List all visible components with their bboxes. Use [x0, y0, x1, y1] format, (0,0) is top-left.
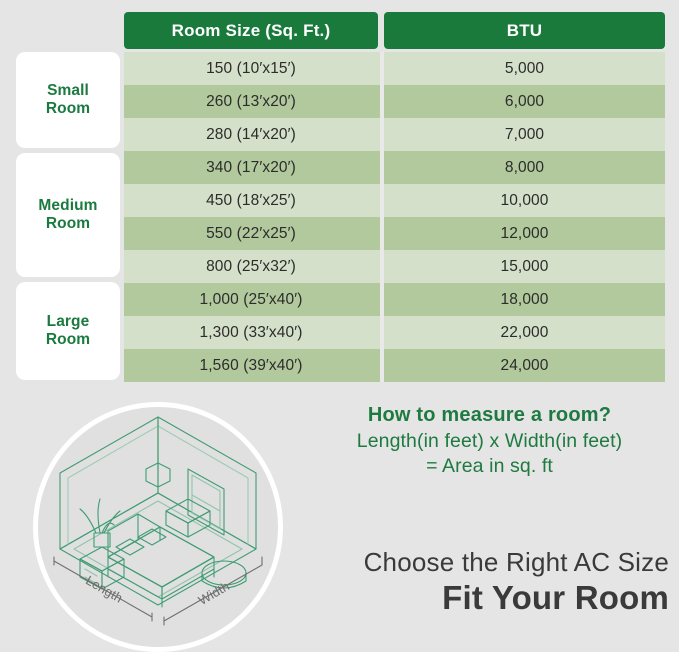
- tagline-block: Choose the Right AC Size Fit Your Room: [300, 548, 669, 617]
- column-header-btu: BTU: [384, 12, 665, 49]
- category-medium-line2: Room: [46, 215, 90, 232]
- table-row: 450 (18′x25′)10,000: [124, 184, 665, 217]
- table-row: 150 (10′x15′)5,000: [124, 52, 665, 85]
- category-label-small: Small Room: [46, 82, 90, 119]
- category-card-medium-room: Medium Room: [16, 153, 120, 277]
- cell-room-size: 150 (10′x15′): [124, 52, 378, 85]
- category-label-large: Large Room: [46, 313, 90, 350]
- cell-btu: 6,000: [384, 85, 665, 118]
- cell-btu: 12,000: [384, 217, 665, 250]
- cell-btu: 5,000: [384, 52, 665, 85]
- length-dimension-label: Length: [83, 573, 125, 606]
- cell-room-size: 1,000 (25′x40′): [124, 283, 378, 316]
- measure-formula-line1: Length(in feet) x Width(in feet): [300, 430, 679, 453]
- cell-btu: 22,000: [384, 316, 665, 349]
- cell-btu: 18,000: [384, 283, 665, 316]
- measure-title: How to measure a room?: [300, 404, 679, 427]
- category-large-line1: Large: [47, 313, 90, 330]
- category-card-large-room: Large Room: [16, 282, 120, 380]
- table-row: 1,300 (33′x40′)22,000: [124, 316, 665, 349]
- cell-btu: 8,000: [384, 151, 665, 184]
- isometric-bedroom-icon: Length Width: [38, 407, 278, 647]
- category-large-line2: Room: [46, 331, 90, 348]
- room-category-column: Small Room Medium Room Large Room: [16, 52, 120, 380]
- category-card-small-room: Small Room: [16, 52, 120, 148]
- cell-room-size: 1,560 (39′x40′): [124, 349, 378, 382]
- measure-formula-line2: = Area in sq. ft: [300, 455, 679, 478]
- tagline-bottom-line: Fit Your Room: [300, 579, 669, 617]
- table-body: 150 (10′x15′)5,000260 (13′x20′)6,000280 …: [124, 52, 665, 382]
- width-dimension-label: Width: [196, 578, 232, 608]
- category-label-medium: Medium Room: [38, 197, 97, 234]
- category-small-line1: Small: [47, 82, 89, 99]
- cell-room-size: 1,300 (33′x40′): [124, 316, 378, 349]
- table-header-row: Room Size (Sq. Ft.) BTU: [124, 12, 665, 49]
- category-medium-line1: Medium: [38, 197, 97, 214]
- cell-room-size: 340 (17′x20′): [124, 151, 378, 184]
- cell-btu: 15,000: [384, 250, 665, 283]
- table-row: 1,000 (25′x40′)18,000: [124, 283, 665, 316]
- cell-room-size: 260 (13′x20′): [124, 85, 378, 118]
- cell-btu: 24,000: [384, 349, 665, 382]
- btu-sizing-table: Small Room Medium Room Large Room Room S…: [0, 0, 679, 392]
- column-header-room-size: Room Size (Sq. Ft.): [124, 12, 378, 49]
- category-small-line2: Room: [46, 100, 90, 117]
- cell-room-size: 450 (18′x25′): [124, 184, 378, 217]
- table-row: 260 (13′x20′)6,000: [124, 85, 665, 118]
- cell-room-size: 280 (14′x20′): [124, 118, 378, 151]
- cell-room-size: 800 (25′x32′): [124, 250, 378, 283]
- column-divider: [380, 52, 384, 382]
- table-row: 340 (17′x20′)8,000: [124, 151, 665, 184]
- room-illustration-circle: Length Width: [33, 402, 283, 652]
- cell-room-size: 550 (22′x25′): [124, 217, 378, 250]
- cell-btu: 10,000: [384, 184, 665, 217]
- table-row: 550 (22′x25′)12,000: [124, 217, 665, 250]
- table-row: 280 (14′x20′)7,000: [124, 118, 665, 151]
- bottom-section: Length Width How to measure a room? Leng…: [0, 392, 679, 648]
- table-row: 1,560 (39′x40′)24,000: [124, 349, 665, 382]
- cell-btu: 7,000: [384, 118, 665, 151]
- table-row: 800 (25′x32′)15,000: [124, 250, 665, 283]
- how-to-measure-block: How to measure a room? Length(in feet) x…: [300, 404, 679, 478]
- tagline-top-line: Choose the Right AC Size: [300, 548, 669, 577]
